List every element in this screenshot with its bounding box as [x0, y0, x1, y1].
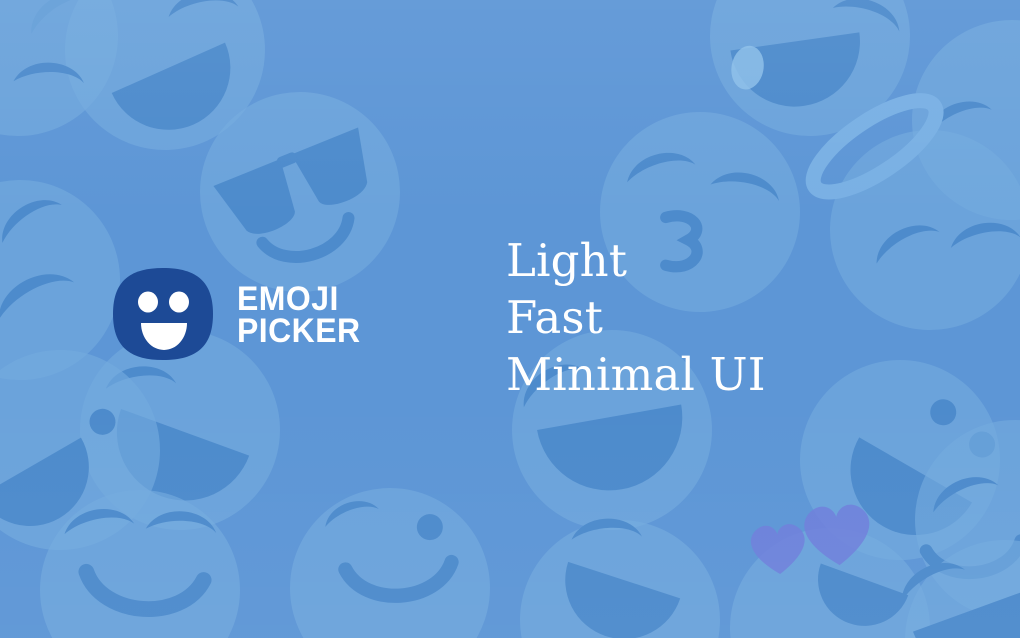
tagline-line-fast: Fast [506, 289, 766, 346]
tagline-line-light: Light [506, 232, 766, 289]
tagline-block: Light Fast Minimal UI [506, 232, 766, 403]
banner-content: EMOJI PICKER Light Fast Minimal UI [0, 0, 1020, 638]
brand-lockup: EMOJI PICKER [113, 268, 368, 360]
brand-wordmark: EMOJI PICKER [237, 280, 368, 348]
wordmark-line-2: PICKER [237, 316, 361, 348]
emoji-picker-banner: EMOJI PICKER Light Fast Minimal UI [0, 0, 1020, 638]
tagline-line-minimal-ui: Minimal UI [506, 346, 766, 403]
emoji-picker-app-icon [113, 268, 213, 360]
